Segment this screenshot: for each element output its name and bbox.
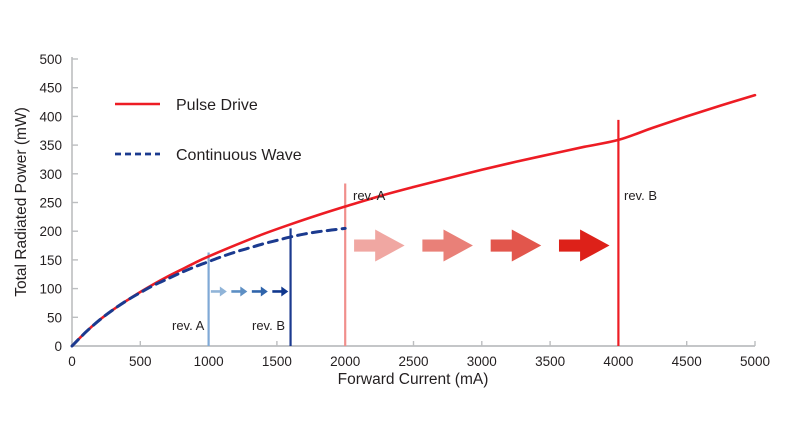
y-tick-label: 50 (47, 310, 62, 325)
x-tick-label: 4500 (672, 354, 702, 369)
x-tick-label: 1000 (194, 354, 224, 369)
legend-label-continuous-wave: Continuous Wave (176, 147, 302, 164)
progress-arrow-blue-3 (252, 286, 268, 296)
x-tick-label: 3500 (535, 354, 565, 369)
y-tick-label: 450 (39, 81, 62, 96)
y-tick-label: 250 (39, 196, 62, 211)
y-tick-label: 0 (54, 339, 62, 354)
chart-container: 050100150200250300350400450500 050010001… (0, 0, 788, 432)
y-tick-label: 100 (39, 282, 62, 297)
progress-arrow-red-1 (354, 230, 405, 262)
x-tick-label: 1500 (262, 354, 292, 369)
progress-arrow-red-2 (422, 230, 473, 262)
progress-arrow-blue-2 (231, 286, 247, 296)
y-tick-label: 400 (39, 109, 62, 124)
legend-label-pulse-drive: Pulse Drive (176, 97, 258, 114)
y-tick-label: 350 (39, 138, 62, 153)
annotation-label-pulse-rev-a: rev. A (353, 188, 386, 203)
progress-arrow-red-4 (559, 230, 610, 262)
x-tick-label: 2000 (330, 354, 360, 369)
x-tick-label: 3000 (467, 354, 497, 369)
progress-arrow-group (211, 230, 610, 297)
annotation-label-cw-rev-a: rev. A (172, 318, 205, 333)
x-tick-label: 2500 (398, 354, 428, 369)
x-tick-label: 500 (129, 354, 152, 369)
y-axis-title: Total Radiated Power (mW) (13, 107, 30, 297)
y-tick-label: 200 (39, 224, 62, 239)
data-series-group (72, 95, 755, 346)
y-tick-label: 300 (39, 167, 62, 182)
annotation-label-pulse-rev-b: rev. B (624, 188, 657, 203)
y-tick-label: 500 (39, 52, 62, 67)
chart-svg: 050100150200250300350400450500 050010001… (0, 0, 788, 432)
progress-arrow-blue-4 (272, 286, 288, 296)
series-line-pulse-drive (72, 95, 755, 346)
progress-arrow-red-3 (491, 230, 542, 262)
x-axis-title: Forward Current (mA) (338, 371, 489, 388)
y-tick-label: 150 (39, 253, 62, 268)
x-tick-label: 5000 (740, 354, 770, 369)
x-tick-label: 4000 (603, 354, 633, 369)
progress-arrow-blue-1 (211, 286, 227, 296)
annotation-label-cw-rev-b: rev. B (252, 318, 285, 333)
x-tick-label: 0 (68, 354, 76, 369)
chart-legend: Pulse Drive Continuous Wave (115, 97, 302, 164)
